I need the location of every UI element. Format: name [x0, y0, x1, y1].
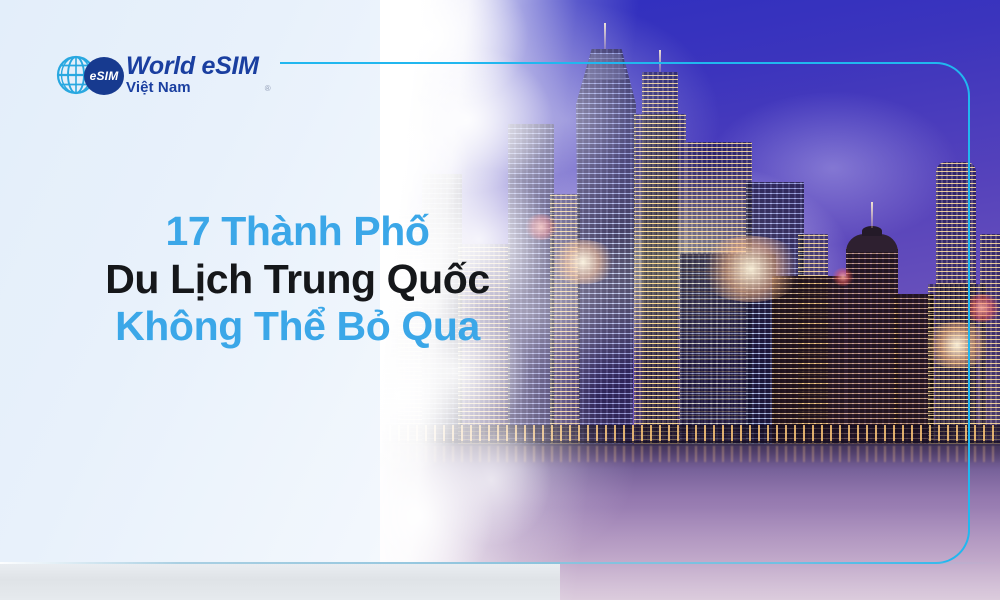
- logo-subtitle: Việt Nam: [126, 80, 259, 97]
- domed-tower-cap: [846, 234, 898, 252]
- hero-banner: eSIM World eSIM Việt Nam ® 17 Thành Phố …: [0, 0, 1000, 600]
- headline-line-3: Không Thể Bỏ Qua: [0, 303, 595, 351]
- logo-mark: eSIM: [56, 53, 122, 97]
- bottom-strip: [0, 564, 560, 600]
- headline-line-2: Du Lịch Trung Quốc: [0, 256, 595, 304]
- logo-title: World eSIM: [126, 54, 259, 80]
- page-title: 17 Thành Phố Du Lịch Trung Quốc Không Th…: [0, 208, 595, 351]
- headline-line-1: 17 Thành Phố: [0, 208, 595, 256]
- esim-badge: eSIM: [84, 57, 124, 95]
- esim-badge-label: eSIM: [90, 70, 119, 82]
- swfc-aperture: [586, 54, 626, 80]
- logo-text: World eSIM Việt Nam ®: [126, 54, 259, 97]
- brand-logo[interactable]: eSIM World eSIM Việt Nam ®: [56, 50, 259, 100]
- registered-mark: ®: [265, 84, 271, 93]
